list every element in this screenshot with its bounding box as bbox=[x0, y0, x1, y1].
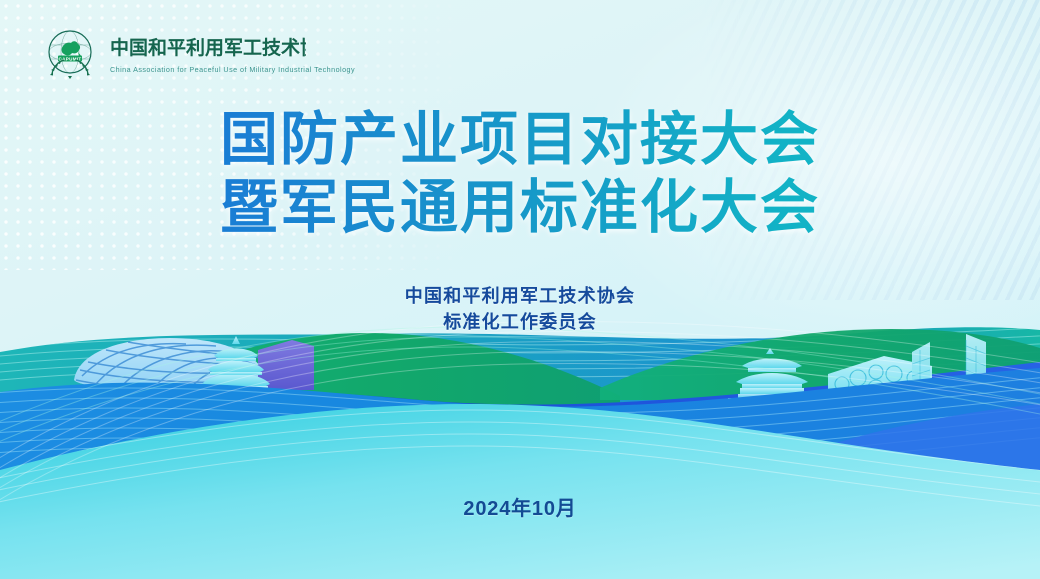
organization-name-en: China Association for Peaceful Use of Mi… bbox=[110, 65, 355, 74]
cctv-tower bbox=[912, 334, 986, 410]
subtitle: 中国和平利用军工技术协会 标准化工作委员会 bbox=[0, 283, 1040, 335]
event-date: 2024年10月 bbox=[0, 492, 1040, 521]
main-title-line-1: 国防产业项目对接大会 bbox=[0, 108, 1040, 172]
green-hill-left bbox=[150, 333, 620, 410]
birds-nest-stadium bbox=[74, 338, 266, 392]
event-date-text: 2024年10月 bbox=[0, 492, 1040, 521]
temple-of-heaven bbox=[202, 336, 270, 407]
mid-water-contour-lines bbox=[0, 374, 1040, 473]
decorative-filament-lines bbox=[0, 321, 1040, 512]
mid-blue-water bbox=[0, 368, 1040, 579]
main-title-line-2: 暨军民通用标准化大会 bbox=[0, 176, 1040, 240]
subtitle-line-1: 中国和平利用军工技术协会 bbox=[0, 283, 1040, 309]
right-blue-accent bbox=[760, 404, 1040, 500]
capumit-emblem-icon: CAPUMIT bbox=[42, 26, 98, 82]
main-title: 国防产业项目对接大会 暨军民通用标准化大会 bbox=[0, 108, 1040, 240]
org-name-cn-text: 中国和平利用军工技术协会 bbox=[110, 36, 306, 59]
deep-blue-wave bbox=[0, 362, 1040, 451]
tiananmen-gate bbox=[722, 348, 822, 415]
conference-banner: CAPUMIT 中国和平利用军工技术协会 China Association f… bbox=[0, 0, 1040, 579]
organization-name-cn-calligraphy: 中国和平利用军工技术协会 bbox=[110, 34, 306, 60]
green-hill-right bbox=[600, 329, 1040, 400]
landmarks-group bbox=[74, 334, 986, 415]
decorative-filament-lines-green bbox=[0, 327, 1040, 450]
organization-logo: CAPUMIT 中国和平利用军工技术协会 China Association f… bbox=[42, 26, 355, 82]
water-cube bbox=[828, 356, 932, 414]
purple-tower bbox=[258, 340, 314, 390]
teal-ridge bbox=[0, 327, 1040, 470]
subtitle-line-2: 标准化工作委员会 bbox=[0, 309, 1040, 335]
